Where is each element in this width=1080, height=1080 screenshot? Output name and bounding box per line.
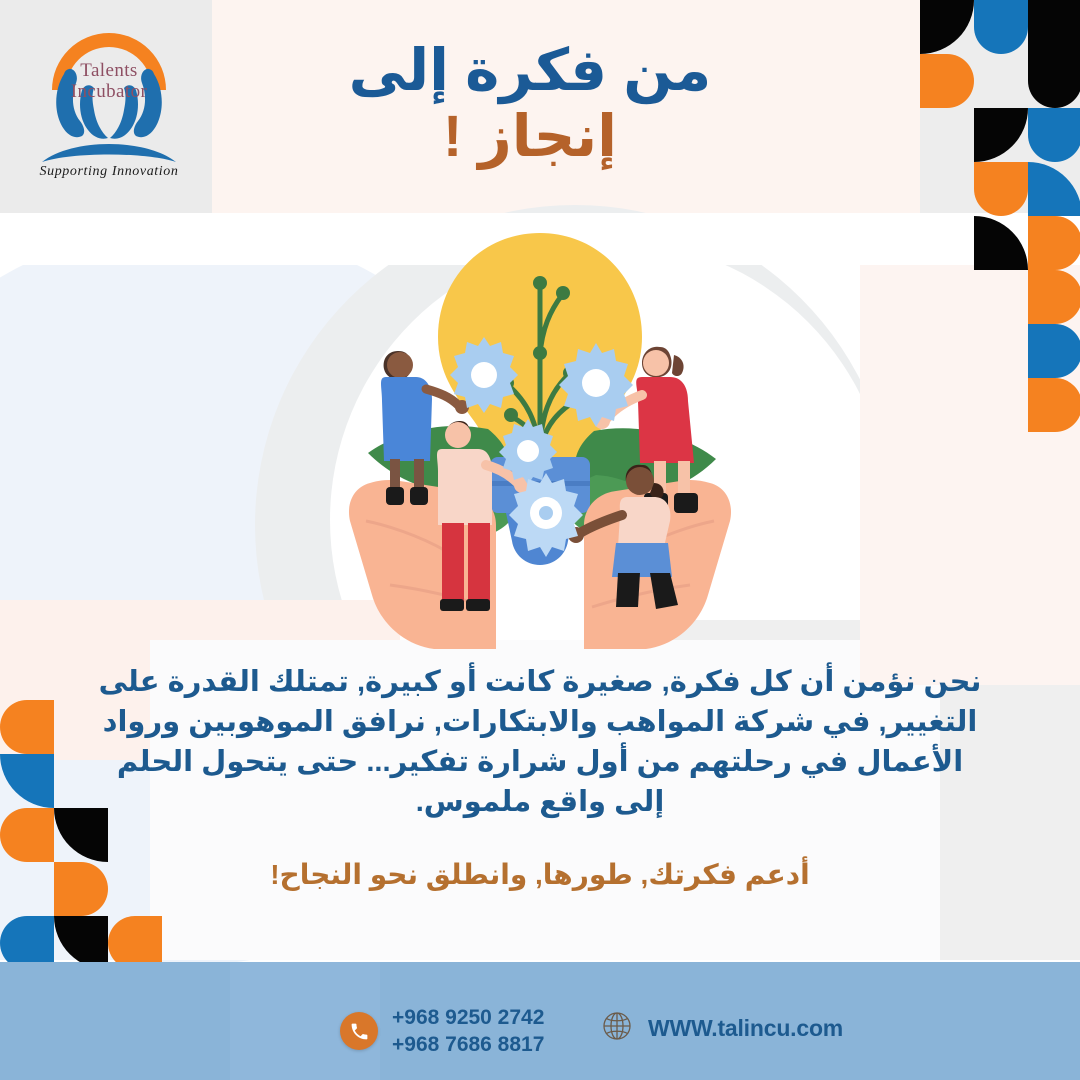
decorative-pattern-top-right: [920, 0, 1080, 440]
pattern-cell: [1028, 216, 1080, 270]
logo-tagline: Supporting Innovation: [24, 164, 194, 180]
pattern-cell: [920, 54, 974, 108]
poster-canvas: Talents Incubator Supporting Innovation …: [0, 0, 1080, 1080]
page-title: من فكرة إلى إنجاز !: [300, 38, 760, 170]
pattern-cell: [1028, 54, 1080, 108]
pattern-cell: [974, 0, 1028, 54]
pattern-cell: [1028, 270, 1080, 324]
pattern-cell: [1028, 108, 1080, 162]
phone-icon: [340, 1012, 378, 1050]
phone-numbers: +968 9250 2742 +968 7686 8817: [392, 1004, 544, 1058]
tagline: أدعم فكرتك, طورها, وانطلق نحو النجاح!: [95, 858, 985, 891]
contact-phone-block[interactable]: +968 9250 2742 +968 7686 8817: [340, 1004, 544, 1058]
website-url: WWW.talincu.com: [648, 1015, 843, 1042]
logo: Talents Incubator Supporting Innovation: [0, 0, 212, 213]
idea-to-achievement-illustration: [250, 225, 830, 655]
pattern-cell: [0, 700, 54, 754]
pattern-cell: [920, 0, 974, 54]
pattern-cell: [974, 108, 1028, 162]
headline-line-primary: من فكرة إلى: [300, 38, 760, 104]
headline-line-secondary: إنجاز !: [300, 104, 760, 170]
phone-number-1: +968 9250 2742: [392, 1006, 544, 1029]
pattern-cell: [1028, 378, 1080, 432]
logo-title-line2: Incubator: [71, 81, 147, 102]
pattern-cell: [974, 216, 1028, 270]
pattern-cell: [1028, 0, 1080, 54]
pattern-cell: [1028, 162, 1080, 216]
pattern-cell: [974, 162, 1028, 216]
body-paragraph: نحن نؤمن أن كل فكرة, صغيرة كانت أو كبيرة…: [95, 662, 985, 822]
website-block[interactable]: WWW.talincu.com: [600, 1009, 843, 1048]
logo-title: Talents Incubator: [24, 60, 194, 102]
logo-title-line1: Talents: [80, 60, 137, 81]
pattern-cell: [0, 754, 54, 808]
globe-icon: [600, 1009, 634, 1048]
pattern-cell: [0, 808, 54, 862]
pattern-cell: [1028, 324, 1080, 378]
phone-number-2: +968 7686 8817: [392, 1033, 544, 1056]
